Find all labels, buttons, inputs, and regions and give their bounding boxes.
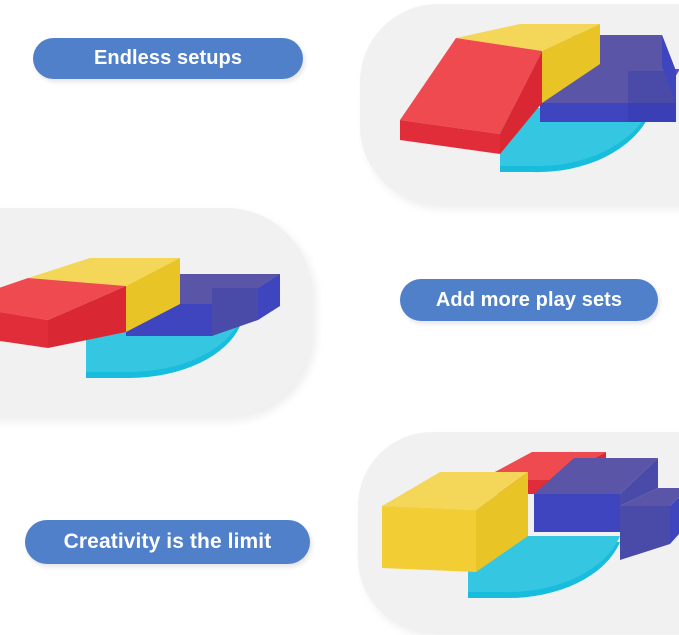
marketing-collage: Endless setups Add more play sets Creati… — [0, 0, 679, 635]
foam-play-set-illustration-1 — [360, 4, 679, 204]
product-panel-top-right — [360, 4, 679, 204]
foam-play-set-illustration-2 — [0, 208, 312, 416]
badge-label: Endless setups — [94, 47, 242, 70]
product-panel-middle-left — [0, 208, 312, 416]
badge-label: Add more play sets — [436, 289, 622, 312]
foam-play-set-illustration-3 — [358, 432, 679, 632]
badge-add-more-play-sets[interactable]: Add more play sets — [400, 279, 658, 321]
badge-creativity-is-the-limit[interactable]: Creativity is the limit — [25, 520, 310, 564]
badge-endless-setups[interactable]: Endless setups — [33, 38, 303, 79]
badge-label: Creativity is the limit — [64, 530, 272, 554]
product-panel-bottom-right — [358, 432, 679, 632]
